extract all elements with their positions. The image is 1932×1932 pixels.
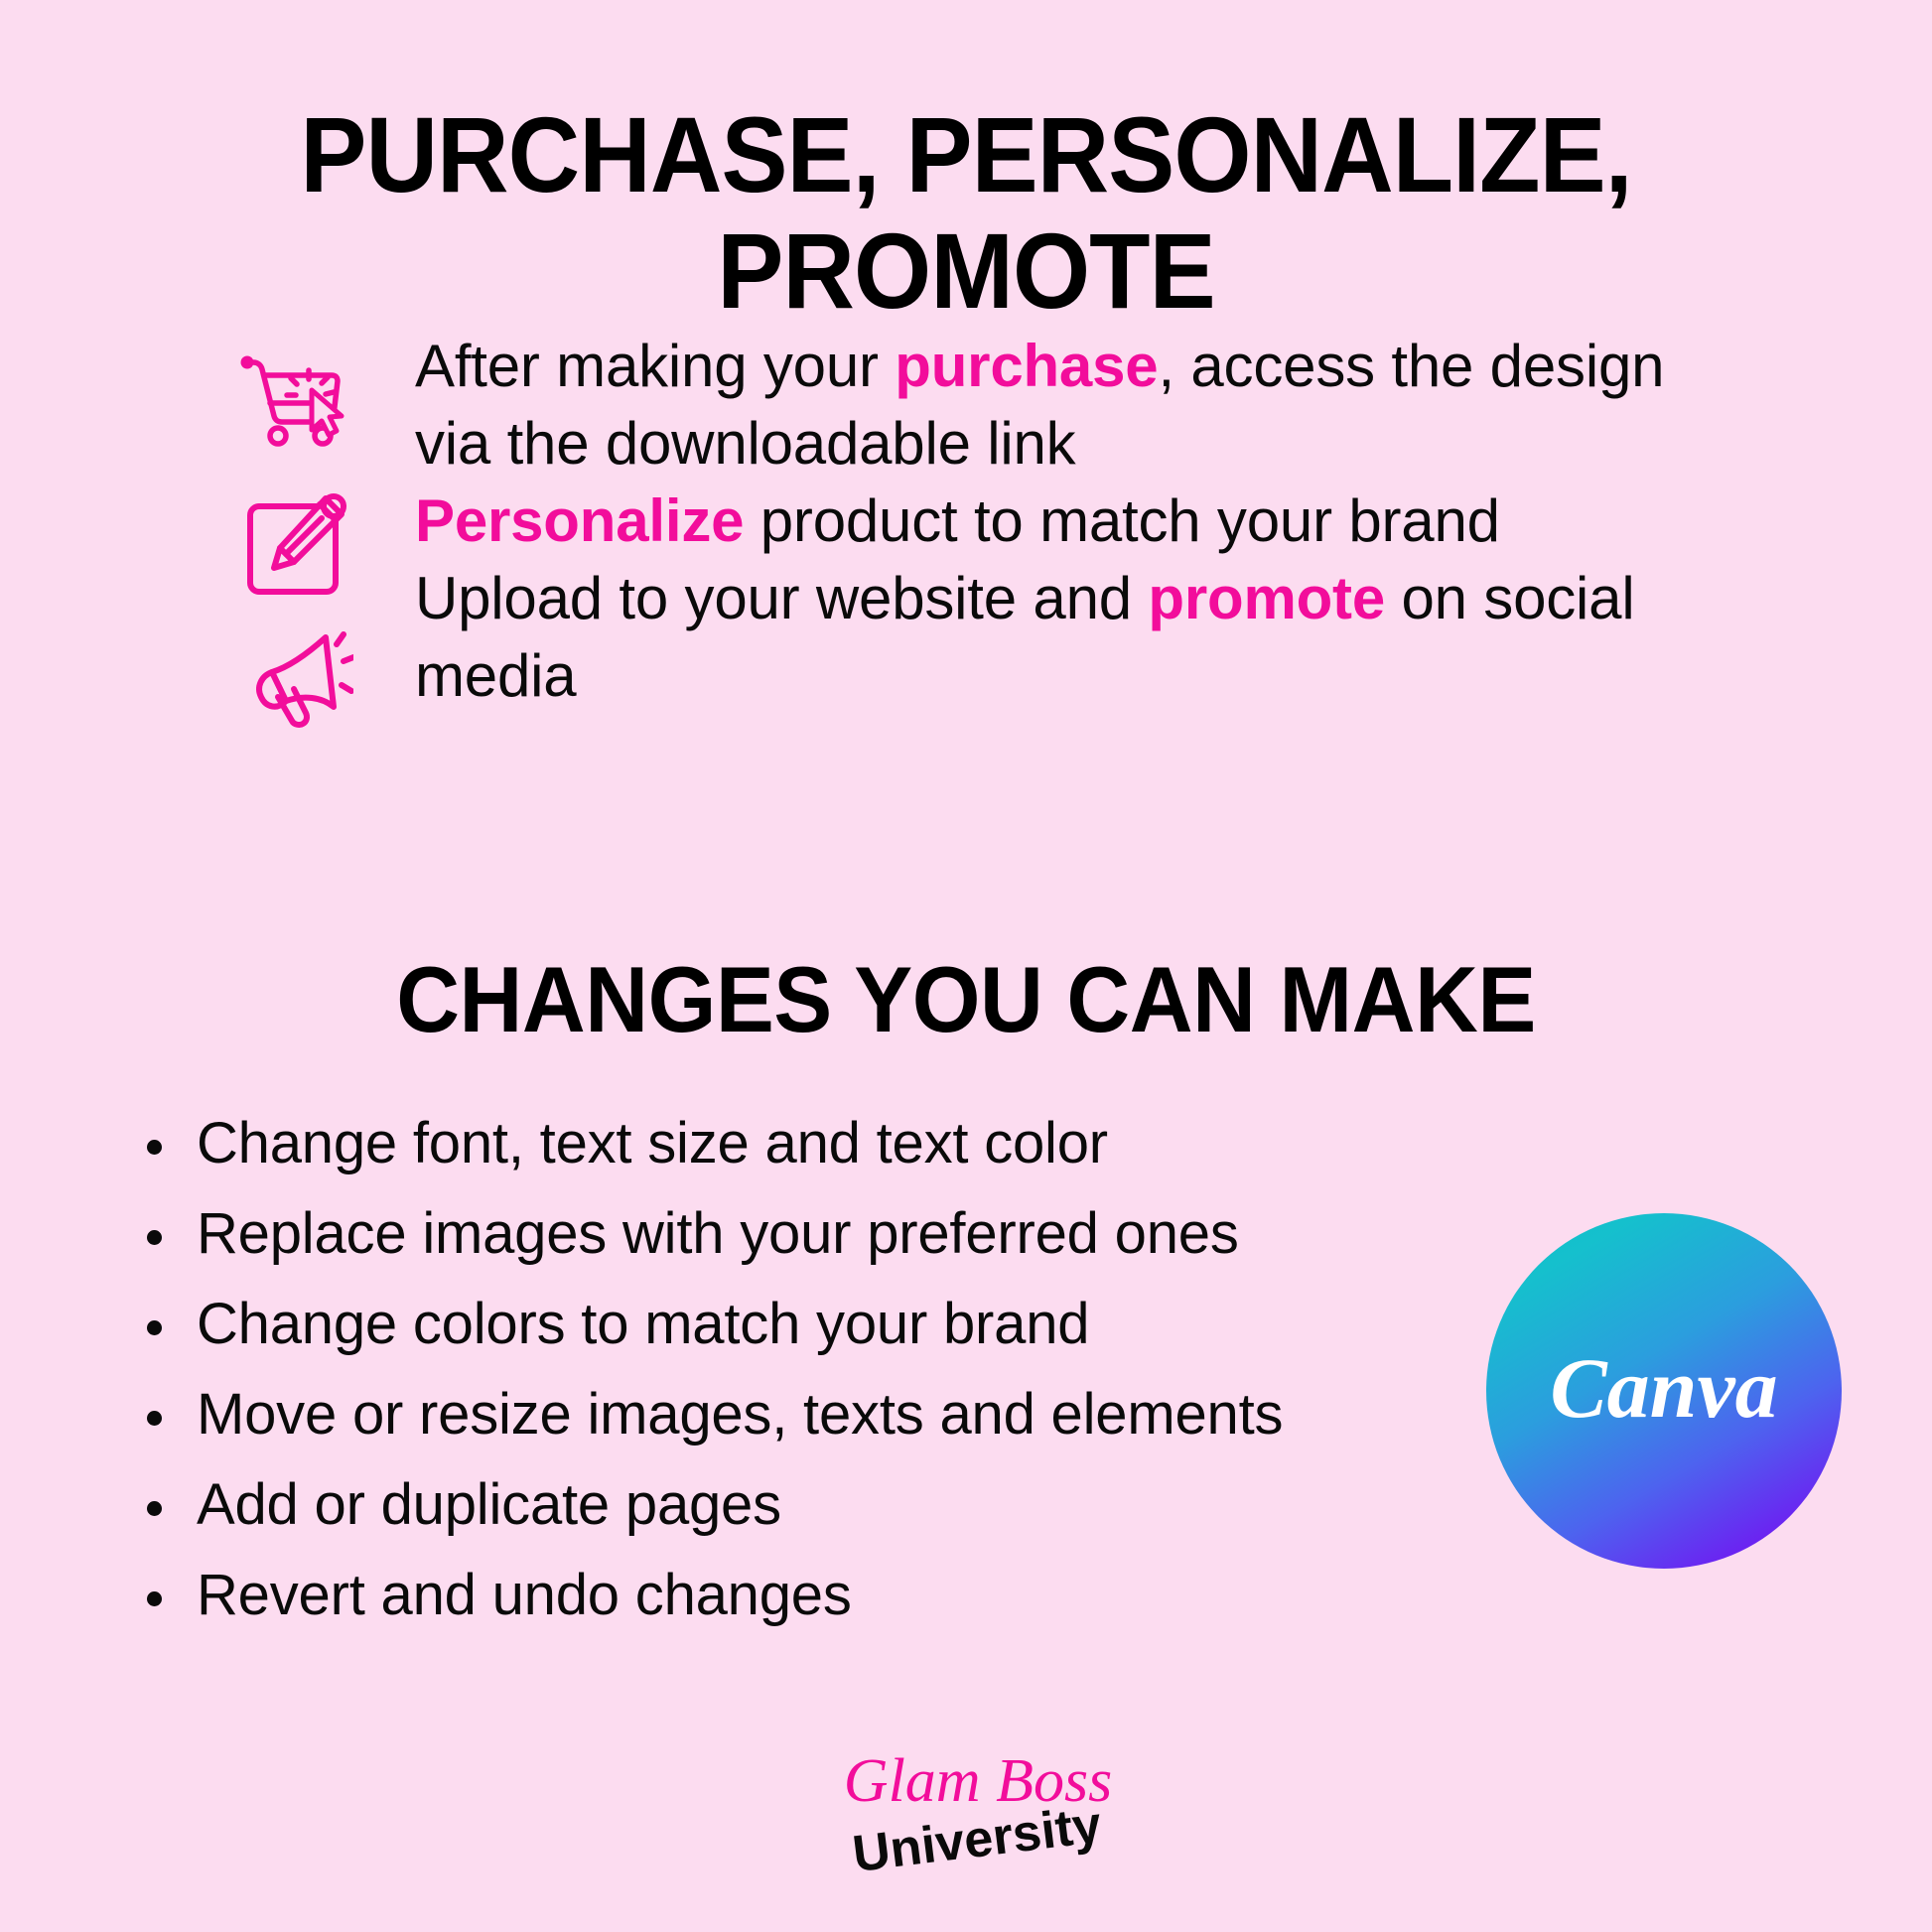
step-line-2: Personalize product to match your brand <box>415 483 1696 560</box>
glam-boss-university-logo: Glam Boss University <box>814 1729 1142 1888</box>
megaphone-icon <box>234 616 353 735</box>
step-2-highlight: Personalize <box>415 487 744 554</box>
list-item: Revert and undo changes <box>129 1559 1420 1632</box>
step-2-seg-2: product to match your brand <box>744 487 1499 554</box>
list-item: Add or duplicate pages <box>129 1468 1420 1542</box>
canva-wordmark-text: Canva <box>1550 1340 1777 1436</box>
step-1-seg-1: After making your <box>415 333 895 399</box>
gbu-logo-art: Glam Boss University <box>814 1729 1142 1888</box>
step-1-highlight: purchase <box>895 333 1158 399</box>
canva-logo: Canva <box>1486 1213 1842 1569</box>
step-3-seg-1: Upload to your website and <box>415 565 1148 631</box>
list-item: Change font, text size and text color <box>129 1107 1420 1180</box>
step-line-3: Upload to your website and promote on so… <box>415 560 1696 715</box>
list-item: Move or resize images, texts and element… <box>129 1378 1420 1451</box>
changes-list: Change font, text size and text color Re… <box>129 1107 1420 1649</box>
step-3-highlight: promote <box>1148 565 1385 631</box>
list-item: Replace images with your preferred ones <box>129 1197 1420 1271</box>
steps-text-block: After making your purchase, access the d… <box>415 328 1696 715</box>
pencil-edit-square-icon <box>234 484 353 604</box>
section-title: CHANGES YOU CAN MAKE <box>216 951 1716 1049</box>
poster-canvas: PURCHASE, PERSONALIZE, PROMOTE <box>0 0 1932 1932</box>
page-title: PURCHASE, PERSONALIZE, PROMOTE <box>224 97 1708 329</box>
step-line-1: After making your purchase, access the d… <box>415 328 1696 483</box>
shopping-cart-click-icon <box>234 338 353 457</box>
canva-wordmark-icon: Canva <box>1535 1326 1793 1455</box>
list-item: Change colors to match your brand <box>129 1288 1420 1361</box>
